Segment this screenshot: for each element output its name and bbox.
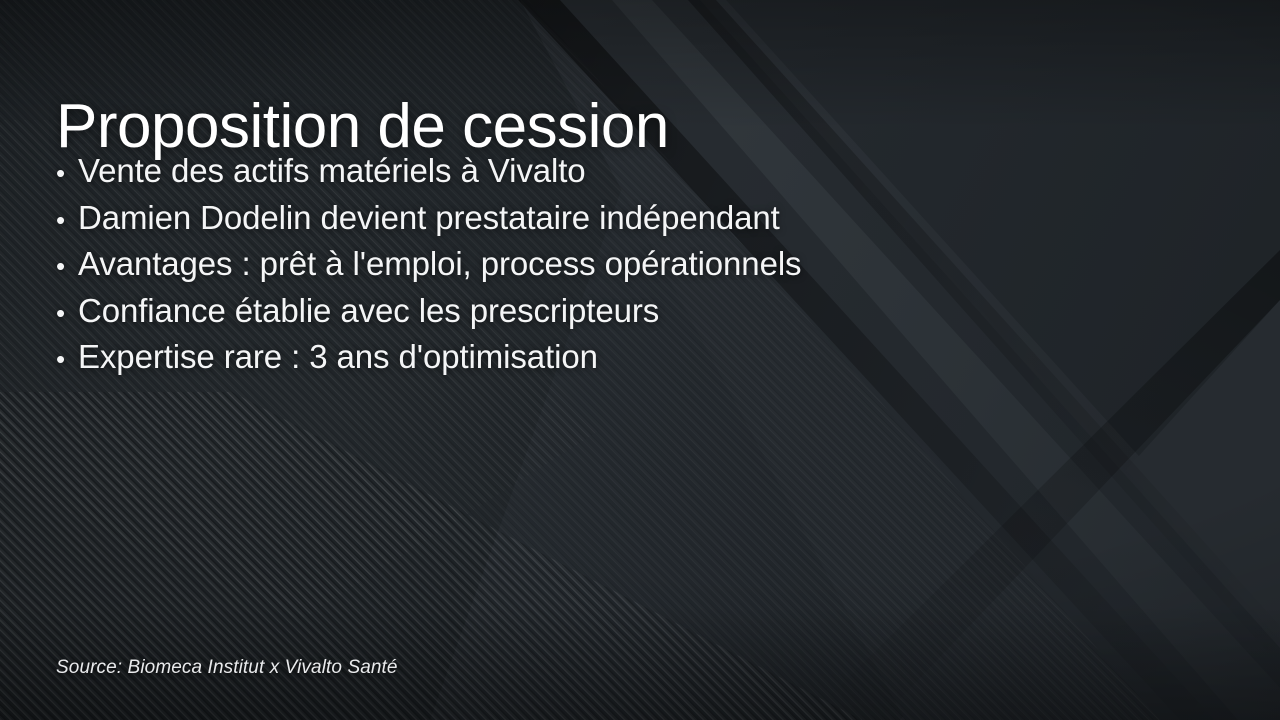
bullet-item: • Expertise rare : 3 ans d'optimisation [56, 338, 801, 385]
source-note: Source: Biomeca Institut x Vivalto Santé [56, 657, 398, 679]
bullet-item: • Avantages : prêt à l'emploi, process o… [56, 245, 801, 292]
bullet-item: • Confiance établie avec les prescripteu… [56, 292, 801, 339]
slide-title: Proposition de cession [56, 94, 669, 159]
bullet-dot-icon: • [56, 207, 78, 233]
bullet-text: Vente des actifs matériels à Vivalto [78, 152, 586, 190]
bullet-text: Damien Dodelin devient prestataire indép… [78, 199, 780, 237]
slide-content: Proposition de cession • Vente des actif… [0, 0, 1280, 720]
bullet-text: Avantages : prêt à l'emploi, process opé… [78, 245, 801, 283]
bullet-dot-icon: • [56, 300, 78, 326]
bullet-dot-icon: • [56, 346, 78, 372]
bullet-dot-icon: • [56, 160, 78, 186]
bullet-text: Expertise rare : 3 ans d'optimisation [78, 338, 598, 376]
bullet-dot-icon: • [56, 253, 78, 279]
bullet-list: • Vente des actifs matériels à Vivalto •… [56, 152, 801, 385]
bullet-item: • Damien Dodelin devient prestataire ind… [56, 199, 801, 246]
bullet-item: • Vente des actifs matériels à Vivalto [56, 152, 801, 199]
bullet-text: Confiance établie avec les prescripteurs [78, 292, 659, 330]
presentation-slide: Proposition de cession • Vente des actif… [0, 0, 1280, 720]
